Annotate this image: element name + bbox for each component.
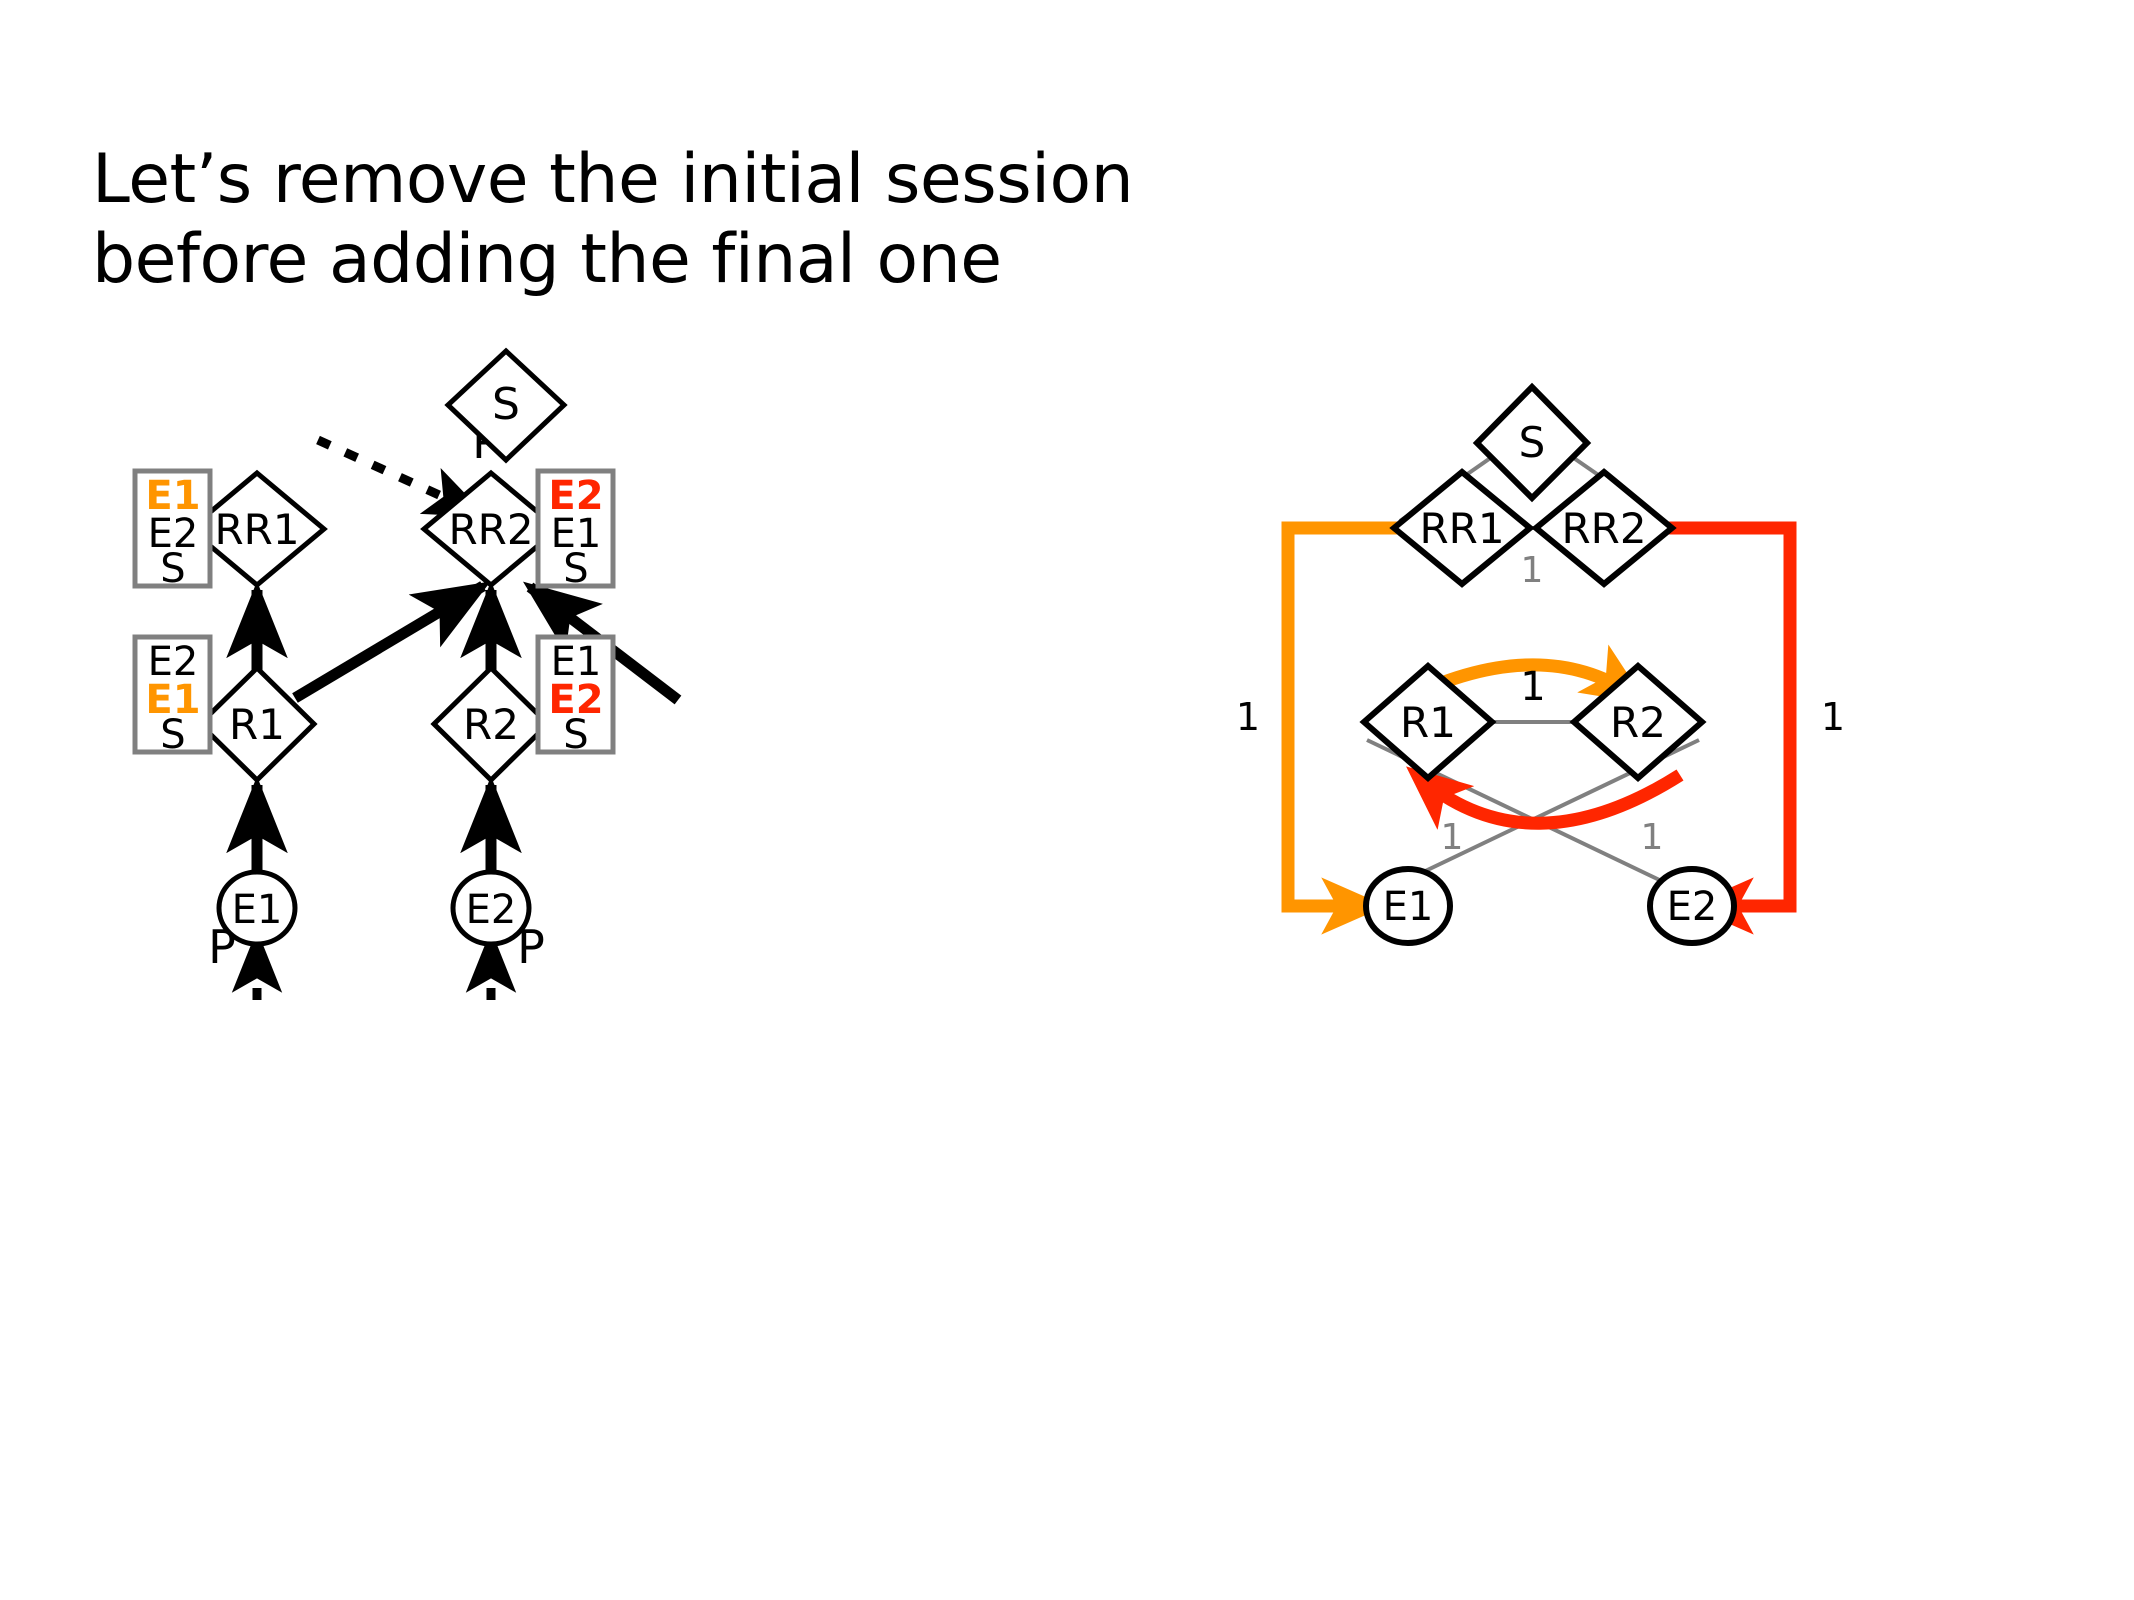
right-diagram: 1 1 1 1 1 1 S RR1 (0, 0, 2134, 1600)
cost-label-r1-e2: 1 (1441, 817, 1464, 858)
right-node-s[interactable]: S (1477, 387, 1587, 498)
right-node-r1-label: R1 (1400, 698, 1456, 747)
cost-label-rr1-rr2: 1 (1521, 550, 1544, 591)
right-node-r2[interactable]: R2 (1574, 666, 1702, 778)
cost-label-r1-r2-top: 1 (1520, 664, 1545, 710)
slide-canvas: Let’s remove the initial session before … (0, 0, 2134, 1600)
cost-label-right-outer: 1 (1821, 695, 1845, 739)
right-node-e2[interactable]: E2 (1650, 869, 1734, 943)
right-node-r2-label: R2 (1610, 698, 1666, 747)
right-node-rr1[interactable]: RR1 (1394, 472, 1530, 584)
cost-label-left-outer: 1 (1236, 695, 1260, 739)
right-node-rr2[interactable]: RR2 (1536, 472, 1672, 584)
right-node-r1[interactable]: R1 (1364, 666, 1492, 778)
cost-label-r2-e1: 1 (1641, 817, 1664, 858)
right-node-rr2-label: RR2 (1561, 504, 1646, 553)
right-node-e1-label: E1 (1383, 884, 1434, 930)
right-node-e1[interactable]: E1 (1366, 869, 1450, 943)
right-node-e2-label: E2 (1667, 884, 1718, 930)
right-node-s-label: S (1519, 418, 1546, 467)
right-node-rr1-label: RR1 (1419, 504, 1504, 553)
